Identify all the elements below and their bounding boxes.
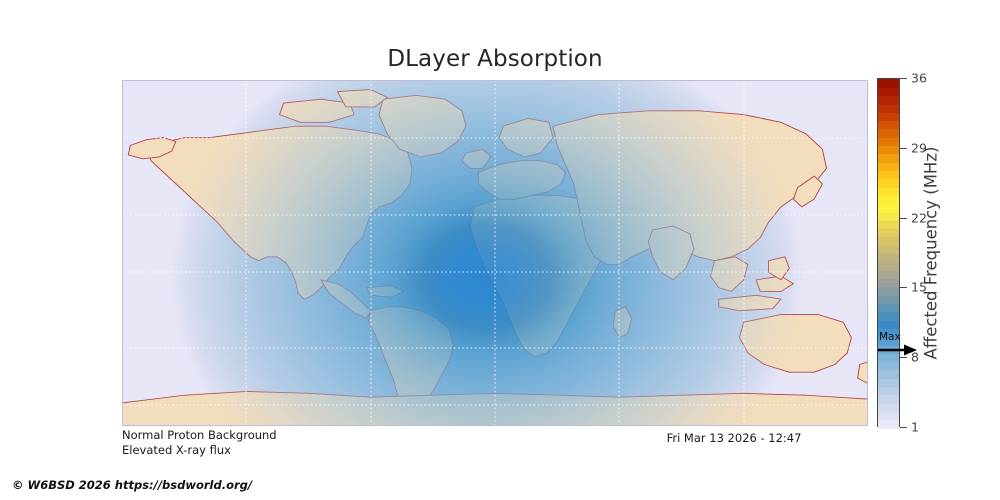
colorbar-segment (878, 411, 899, 420)
colorbar-tick (900, 357, 907, 358)
colorbar-axis-label: Affected Frequency (MHz) (918, 78, 944, 427)
colorbar-segment (878, 254, 899, 263)
colorbar-segment (878, 353, 899, 362)
colorbar-segment (878, 212, 899, 221)
colorbar-segment (878, 245, 899, 254)
page-title: DLayer Absorption (0, 46, 990, 72)
colorbar-tick (900, 287, 907, 288)
world-map-axes[interactable] (122, 80, 868, 426)
colorbar-segment (878, 79, 899, 88)
graticule-grid (122, 80, 868, 426)
colorbar-segment (878, 303, 899, 312)
colorbar-segment (878, 345, 899, 354)
colorbar-segment (878, 312, 899, 321)
colorbar-segment (878, 328, 899, 337)
colorbar-segment (878, 87, 899, 96)
colorbar-segment (878, 137, 899, 146)
colorbar-segment (878, 154, 899, 163)
colorbar-segment (878, 187, 899, 196)
colorbar-segment (878, 403, 899, 412)
colorbar-segment (878, 195, 899, 204)
colorbar-segment (878, 179, 899, 188)
colorbar-tick (900, 427, 907, 428)
colorbar-segment (878, 129, 899, 138)
colorbar-label-text: Affected Frequency (MHz) (922, 146, 941, 359)
colorbar-segment (878, 262, 899, 271)
colorbar-segment (878, 295, 899, 304)
colorbar-tick (900, 148, 907, 149)
colorbar-segment (878, 370, 899, 379)
colorbar-segment (878, 104, 899, 113)
colorbar-segment (878, 386, 899, 395)
colorbar-segment (878, 170, 899, 179)
colorbar[interactable]: 1815222936 (877, 78, 900, 427)
colorbar-segment (878, 362, 899, 371)
colorbar-segment (878, 420, 899, 429)
colorbar-segment (878, 395, 899, 404)
dlayer-absorption-screen: DLayer Absorption (0, 0, 1000, 500)
status-annotations: Normal Proton Background Elevated X-ray … (122, 428, 277, 458)
colorbar-segment (878, 204, 899, 213)
status-xray-flux: Elevated X-ray flux (122, 443, 277, 458)
colorbar-tick (900, 78, 907, 79)
colorbar-segment (878, 287, 899, 296)
colorbar-segment (878, 145, 899, 154)
colorbar-segment (878, 320, 899, 329)
colorbar-segment (878, 229, 899, 238)
colorbar-segment (878, 162, 899, 171)
colorbar-segment (878, 270, 899, 279)
timestamp-label: Fri Mar 13 2026 - 12:47 (600, 431, 868, 445)
colorbar-gradient (877, 78, 900, 427)
colorbar-segment (878, 220, 899, 229)
colorbar-tick (900, 218, 907, 219)
colorbar-segment (878, 237, 899, 246)
colorbar-segment (878, 96, 899, 105)
colorbar-segment (878, 112, 899, 121)
colorbar-segment (878, 121, 899, 130)
colorbar-segment (878, 337, 899, 346)
copyright-label: © W6BSD 2026 https://bsdworld.org/ (12, 478, 252, 492)
status-proton-background: Normal Proton Background (122, 428, 277, 443)
colorbar-segment (878, 378, 899, 387)
colorbar-segment (878, 278, 899, 287)
